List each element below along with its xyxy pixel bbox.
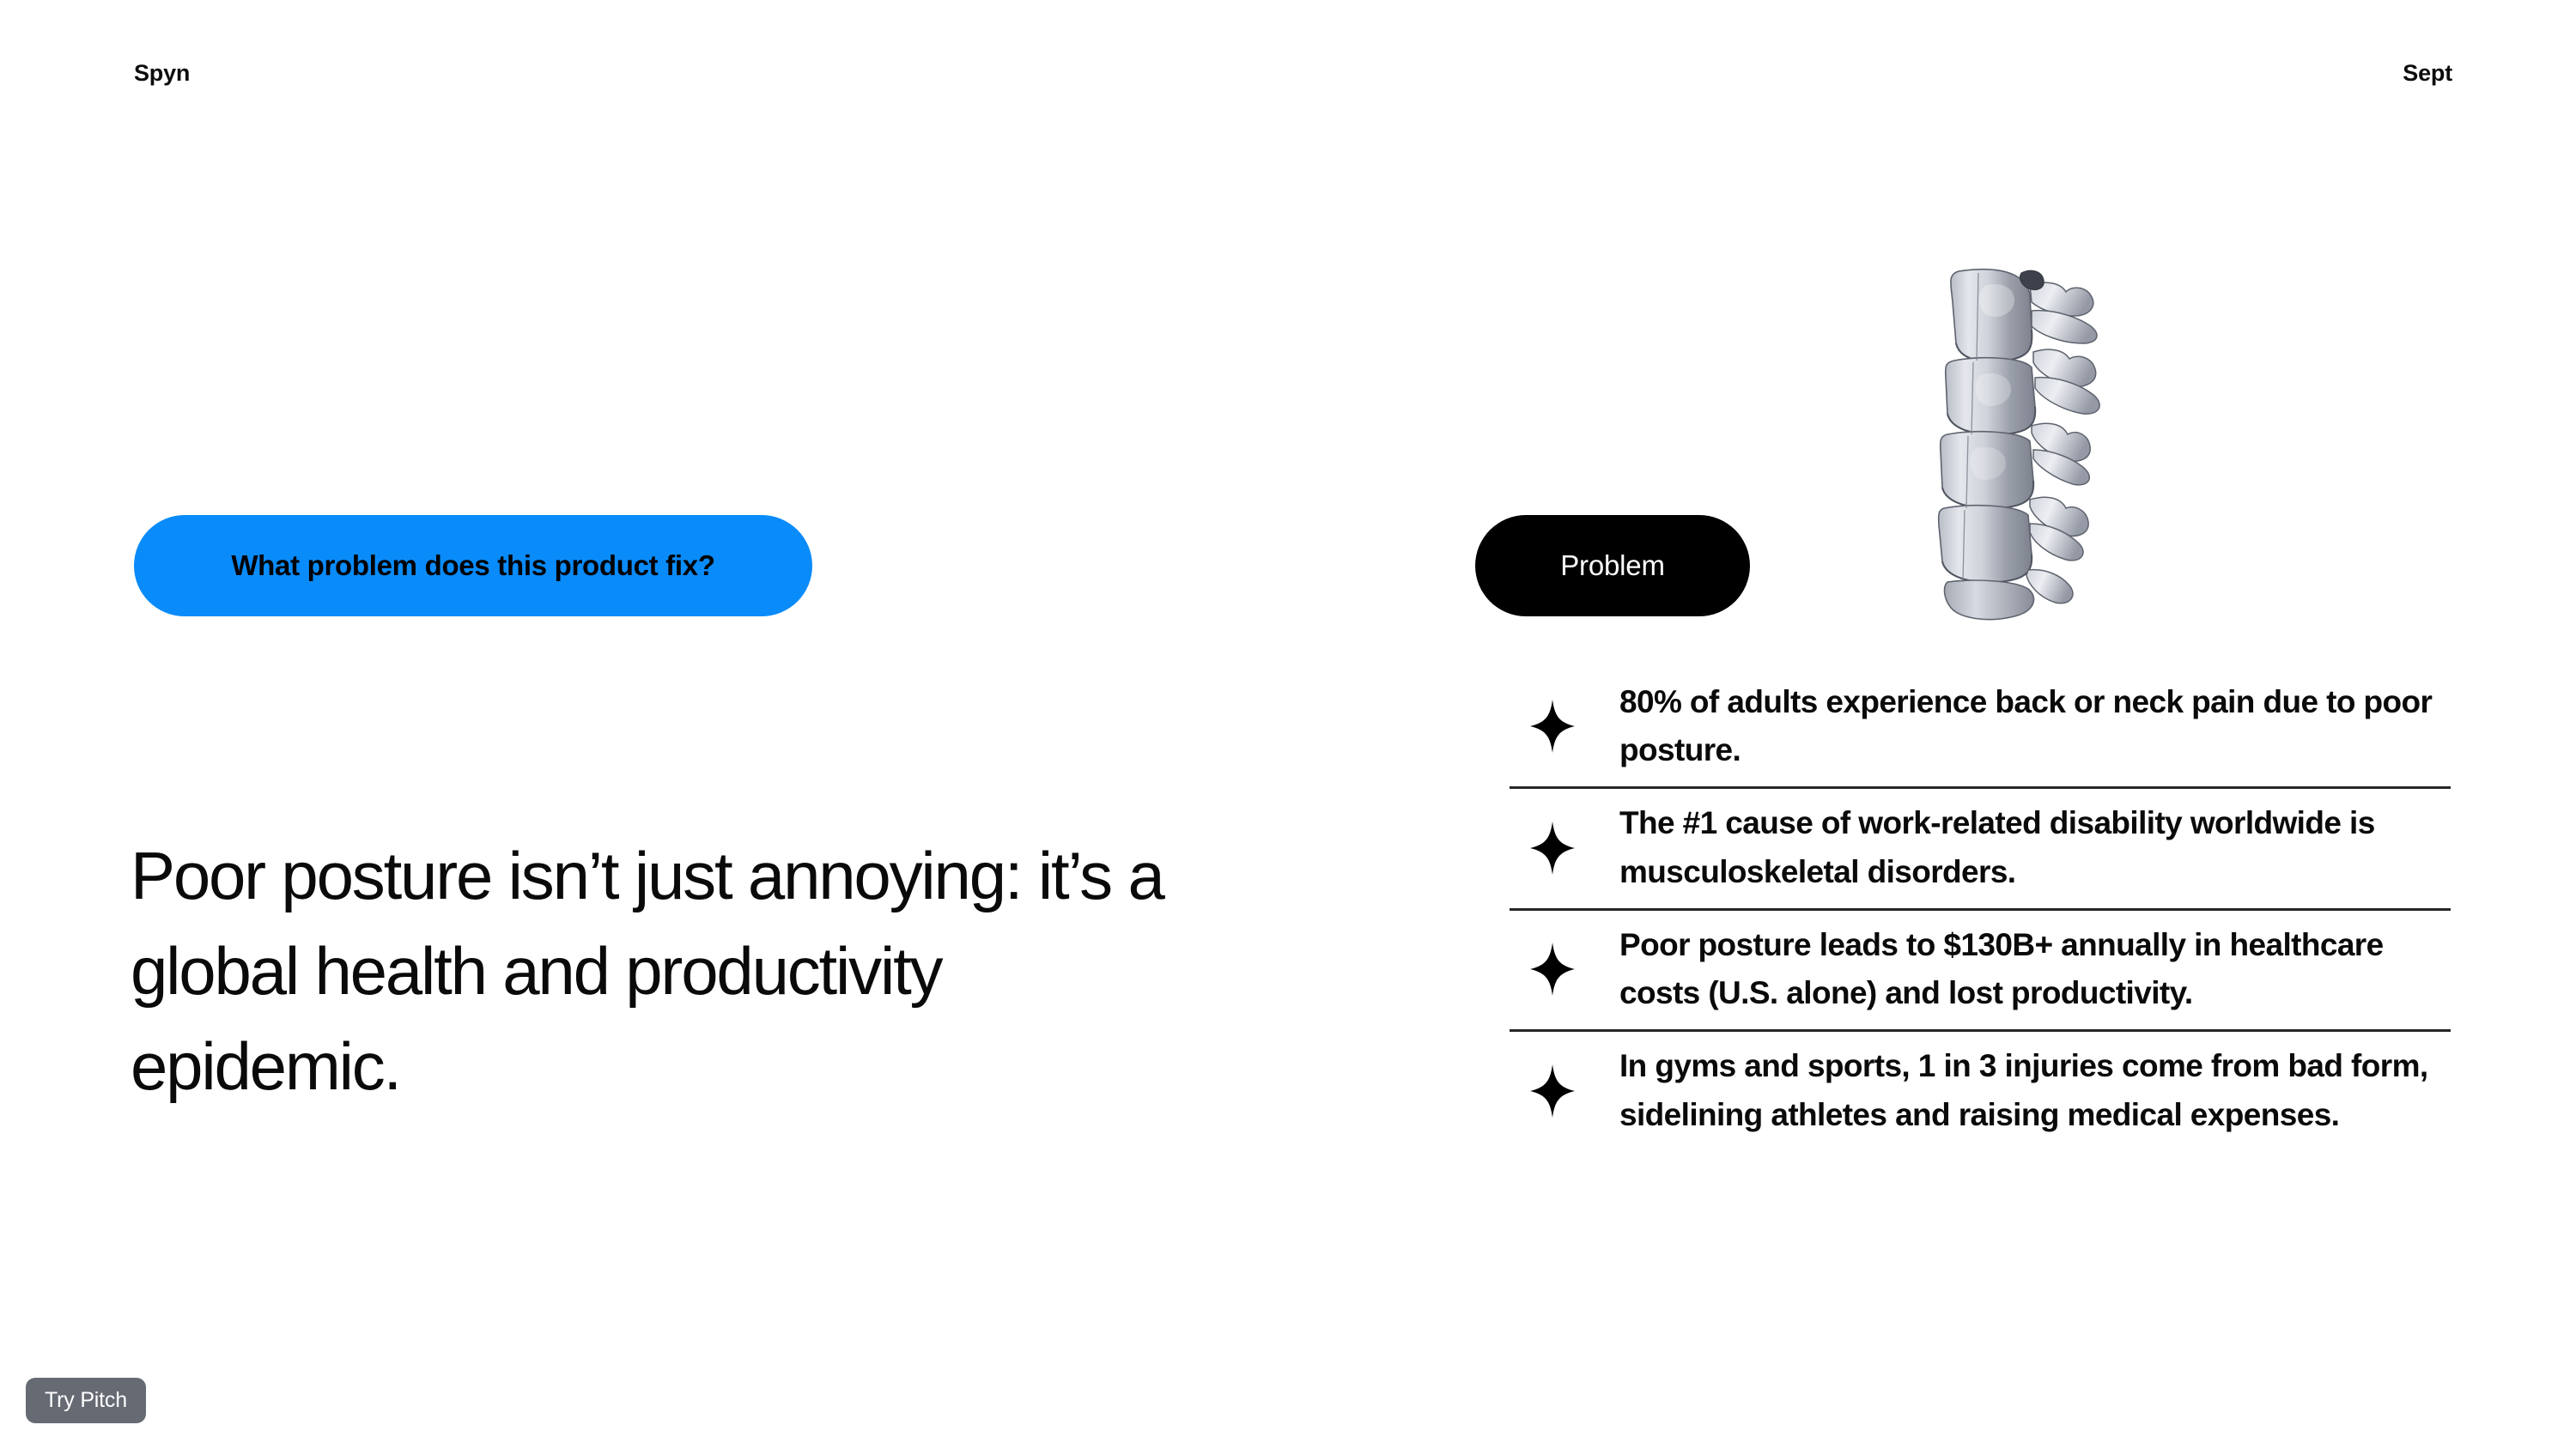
list-item: Poor posture leads to $130B+ annually in… xyxy=(1510,911,2451,1032)
sparkle-star-icon xyxy=(1510,1064,1619,1118)
fact-text: The #1 cause of work-related disability … xyxy=(1619,799,2451,895)
list-item: In gyms and sports, 1 in 3 injuries come… xyxy=(1510,1032,2451,1150)
fact-text-before: Poor posture leads to xyxy=(1619,927,1943,962)
fact-text-emphasis: $130B+ xyxy=(1943,927,2052,962)
fact-text: In gyms and sports, 1 in 3 injuries come… xyxy=(1619,1042,2451,1138)
question-pill[interactable]: What problem does this product fix? xyxy=(134,515,812,616)
slide-canvas: Spyn Sept What problem does this product… xyxy=(0,0,2576,1449)
fact-text: 80% of adults experience back or neck pa… xyxy=(1619,678,2451,774)
sparkle-star-icon xyxy=(1510,943,1619,996)
fact-text: Poor posture leads to $130B+ annually in… xyxy=(1619,921,2451,1017)
facts-list: 80% of adults experience back or neck pa… xyxy=(1510,668,2451,1151)
sparkle-star-icon xyxy=(1510,822,1619,875)
fact-text-before: In gyms and sports, xyxy=(1619,1048,1918,1083)
brand-label: Spyn xyxy=(134,62,190,85)
section-tag-pill[interactable]: Problem xyxy=(1475,515,1750,616)
fact-text-emphasis: 1 in 3 injuries xyxy=(1918,1048,2113,1083)
list-item: The #1 cause of work-related disability … xyxy=(1510,789,2451,910)
lumbar-spine-3d-render xyxy=(1877,247,2135,634)
try-pitch-button[interactable]: Try Pitch xyxy=(26,1378,146,1423)
date-label: Sept xyxy=(2403,62,2452,85)
list-item: 80% of adults experience back or neck pa… xyxy=(1510,668,2451,789)
sparkle-star-icon xyxy=(1510,700,1619,753)
page-title: Poor posture isn’t just annoying: it’s a… xyxy=(131,828,1187,1113)
